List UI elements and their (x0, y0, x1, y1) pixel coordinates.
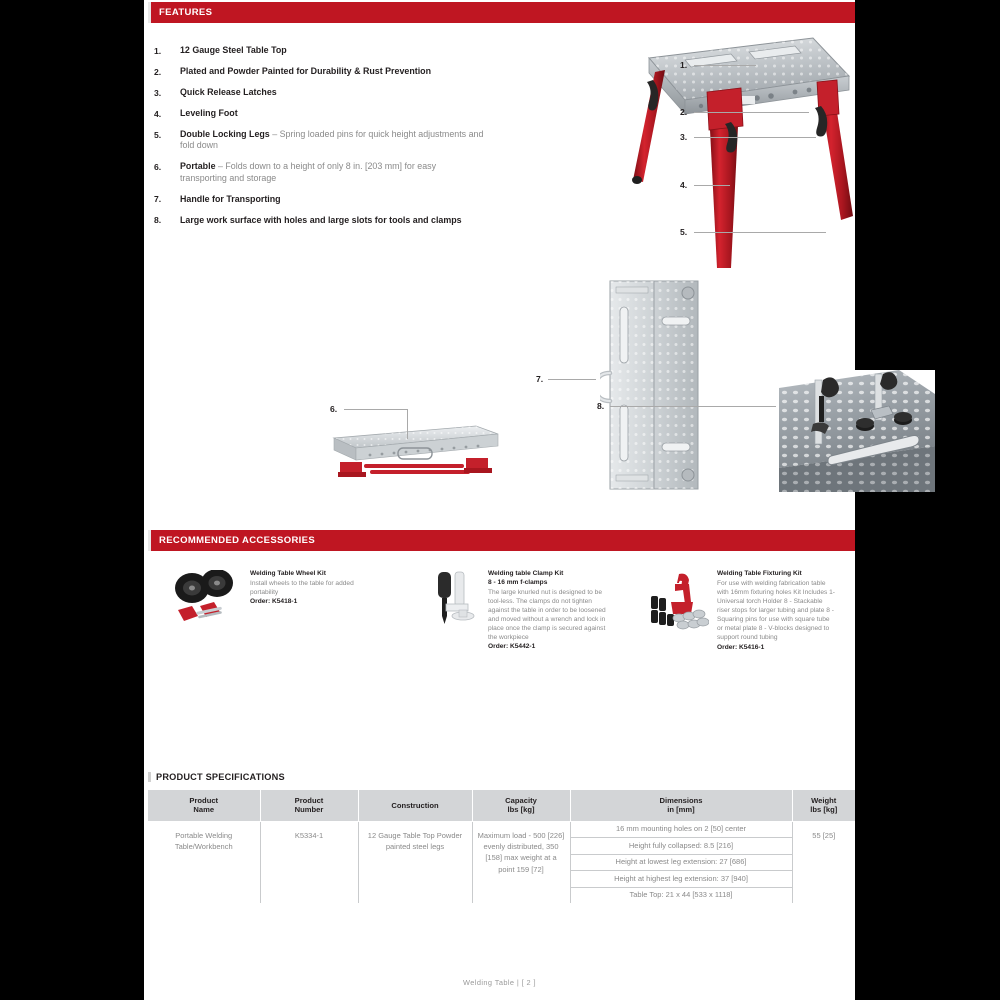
wheel-kit-title: Welding Table Wheel Kit (250, 570, 358, 579)
callout-3: 3. (680, 132, 687, 142)
screenshot-stage: FEATURES 1. 12 Gauge Steel Table Top 2. … (0, 0, 1000, 1000)
feature-text-rest: – Folds down to a height of only 8 in. [… (180, 161, 436, 182)
feature-text: 12 Gauge Steel Table Top (180, 45, 287, 57)
fixturing-kit-title: Welding Table Fixturing Kit (717, 570, 835, 579)
section-header-features-label: FEATURES (151, 7, 212, 18)
section-header-specifications: PRODUCT SPECIFICATIONS (148, 772, 285, 782)
feature-number: 7. (154, 194, 180, 206)
section-header-features: FEATURES (148, 2, 855, 23)
fixturing-kit-body: For use with welding fabrication table w… (717, 579, 835, 643)
feature-item: 4. Leveling Foot (154, 108, 484, 120)
th-dimensions: Dimensions in [mm] (570, 790, 792, 821)
feature-text-bold: Plated and Powder Painted for Durability… (180, 66, 431, 76)
callout-2: 2. (680, 107, 687, 117)
th-weight: Weight lbs [kg] (792, 790, 855, 821)
document-page: FEATURES 1. 12 Gauge Steel Table Top 2. … (144, 0, 855, 1000)
dimension-row: Height fully collapsed: 8.5 [216] (571, 838, 792, 855)
feature-item: 7. Handle for Transporting (154, 194, 484, 206)
product-photo-worksurface-closeup (779, 370, 935, 492)
feature-item: 5. Double Locking Legs – Spring loaded p… (154, 129, 484, 152)
wheel-kit-body: Install wheels to the table for added po… (250, 579, 358, 597)
th-dimensions-l1: Dimensions (659, 796, 702, 805)
th-product-name-l1: Product (189, 796, 218, 805)
th-product-number-l1: Product (295, 796, 324, 805)
section-header-accessories-label: RECOMMENDED ACCESSORIES (151, 535, 315, 546)
feature-text: Leveling Foot (180, 108, 238, 120)
callout-8: 8. (597, 401, 604, 411)
feature-item: 1. 12 Gauge Steel Table Top (154, 45, 484, 57)
callout-1-leader (694, 65, 756, 66)
page-footer: Welding Table | [ 2 ] (144, 978, 855, 987)
dimension-row: Table Top: 21 x 44 [533 x 1118] (571, 887, 792, 903)
feature-text: Quick Release Latches (180, 87, 277, 99)
feature-text-bold: Portable (180, 161, 216, 171)
callout-6-label: 6. (330, 404, 337, 414)
callout-5-leader (694, 232, 826, 233)
feature-text-bold: Leveling Foot (180, 108, 238, 118)
feature-text: Double Locking Legs – Spring loaded pins… (180, 129, 484, 152)
product-specifications-table: Product Name Product Number Construction… (148, 790, 855, 903)
feature-text: Plated and Powder Painted for Durability… (180, 66, 431, 78)
feature-number: 1. (154, 45, 180, 57)
product-photo-upright-table (600, 277, 704, 493)
callout-7-label: 7. (536, 374, 543, 384)
th-capacity-l1: Capacity (505, 796, 537, 805)
cell-capacity: Maximum load - 500 [226] evenly distribu… (472, 821, 570, 903)
callout-3-leader (694, 137, 816, 138)
th-capacity-l2: lbs [kg] (507, 805, 534, 814)
wheel-kit-icon (170, 570, 240, 626)
th-product-name-l2: Name (193, 805, 214, 814)
cell-dimensions: 16 mm mounting holes on 2 [50] center He… (570, 821, 792, 903)
cell-construction: 12 Gauge Table Top Powder painted steel … (358, 821, 472, 903)
th-product-number: Product Number (260, 790, 358, 821)
dimension-item: Height fully collapsed: 8.5 [216] (571, 838, 792, 855)
callout-4-leader (694, 185, 730, 186)
features-list: 1. 12 Gauge Steel Table Top 2. Plated an… (154, 45, 484, 236)
dimension-item: 16 mm mounting holes on 2 [50] center (571, 822, 792, 838)
feature-item: 2. Plated and Powder Painted for Durabil… (154, 66, 484, 78)
table-row: Portable Welding Table/Workbench K5334-1… (148, 821, 855, 903)
callout-5-label: 5. (680, 227, 687, 237)
section-header-specifications-label: PRODUCT SPECIFICATIONS (156, 772, 285, 782)
callout-8-label: 8. (597, 401, 604, 411)
clamp-kit-title: Welding table Clamp Kit (488, 570, 606, 579)
callout-2-leader (694, 112, 809, 113)
section-header-accessories: RECOMMENDED ACCESSORIES (148, 530, 855, 551)
feature-number: 5. (154, 129, 180, 152)
clamp-kit-text: Welding table Clamp Kit 8 - 16 mm f-clam… (488, 570, 606, 650)
feature-item: 3. Quick Release Latches (154, 87, 484, 99)
feature-number: 8. (154, 215, 180, 227)
th-construction-label: Construction (391, 801, 438, 810)
feature-number: 2. (154, 66, 180, 78)
feature-number: 4. (154, 108, 180, 120)
wheel-kit-text: Welding Table Wheel Kit Install wheels t… (250, 570, 358, 605)
dimension-row: 16 mm mounting holes on 2 [50] center (571, 822, 792, 838)
callout-6-leader (344, 409, 408, 410)
callout-1-label: 1. (680, 60, 687, 70)
dimensions-sublist: 16 mm mounting holes on 2 [50] center He… (571, 822, 792, 904)
feature-text-bold: Double Locking Legs (180, 129, 270, 139)
callout-3-label: 3. (680, 132, 687, 142)
callout-8-leader (610, 406, 776, 407)
fixturing-kit-icon (649, 570, 709, 630)
feature-item: 6. Portable – Folds down to a height of … (154, 161, 484, 184)
feature-number: 6. (154, 161, 180, 184)
callout-4-label: 4. (680, 180, 687, 190)
fixturing-kit-text: Welding Table Fixturing Kit For use with… (717, 570, 835, 651)
wheel-kit-order: Order: K5418-1 (250, 598, 358, 605)
feature-text-bold: Handle for Transporting (180, 194, 281, 204)
page-footer-text: Welding Table | [ 2 ] (463, 978, 536, 987)
th-dimensions-l2: in [mm] (667, 805, 694, 814)
feature-text-bold: Large work surface with holes and large … (180, 215, 462, 225)
product-photo-folded-table (326, 418, 502, 490)
callout-7: 7. (536, 374, 543, 384)
fixturing-kit-order: Order: K5416-1 (717, 644, 835, 651)
dimension-row: Height at highest leg extension: 37 [940… (571, 871, 792, 888)
callout-6: 6. (330, 404, 337, 414)
th-weight-l1: Weight (811, 796, 836, 805)
callout-4: 4. (680, 180, 687, 190)
clamp-kit-subtitle: 8 - 16 mm f-clamps (488, 579, 606, 588)
th-capacity: Capacity lbs [kg] (472, 790, 570, 821)
callout-1: 1. (680, 60, 687, 70)
cell-weight: 55 [25] (792, 821, 855, 903)
th-weight-l2: lbs [kg] (810, 805, 837, 814)
callout-5: 5. (680, 227, 687, 237)
dimension-row: Height at lowest leg extension: 27 [686] (571, 854, 792, 871)
cell-product-number: K5334-1 (260, 821, 358, 903)
th-product-number-l2: Number (295, 805, 324, 814)
clamp-kit-body: The large knurled nut is designed to be … (488, 588, 606, 643)
table-header-row: Product Name Product Number Construction… (148, 790, 855, 821)
feature-text-bold: 12 Gauge Steel Table Top (180, 45, 287, 55)
product-photo-main-table (581, 30, 855, 270)
th-construction: Construction (358, 790, 472, 821)
callout-2-label: 2. (680, 107, 687, 117)
feature-text: Portable – Folds down to a height of onl… (180, 161, 484, 184)
feature-number: 3. (154, 87, 180, 99)
feature-text: Handle for Transporting (180, 194, 281, 206)
dimension-item: Height at lowest leg extension: 27 [686] (571, 854, 792, 871)
callout-6-leader-vertical (407, 409, 408, 439)
feature-item: 8. Large work surface with holes and lar… (154, 215, 484, 227)
th-product-name: Product Name (148, 790, 260, 821)
feature-text: Large work surface with holes and large … (180, 215, 462, 227)
clamp-kit-icon (430, 570, 478, 642)
feature-text-bold: Quick Release Latches (180, 87, 277, 97)
clamp-kit-order: Order: K5442-1 (488, 643, 606, 650)
callout-7-leader (548, 379, 596, 380)
cell-product-name: Portable Welding Table/Workbench (148, 821, 260, 903)
dimension-item: Table Top: 21 x 44 [533 x 1118] (571, 887, 792, 903)
dimension-item: Height at highest leg extension: 37 [940… (571, 871, 792, 888)
